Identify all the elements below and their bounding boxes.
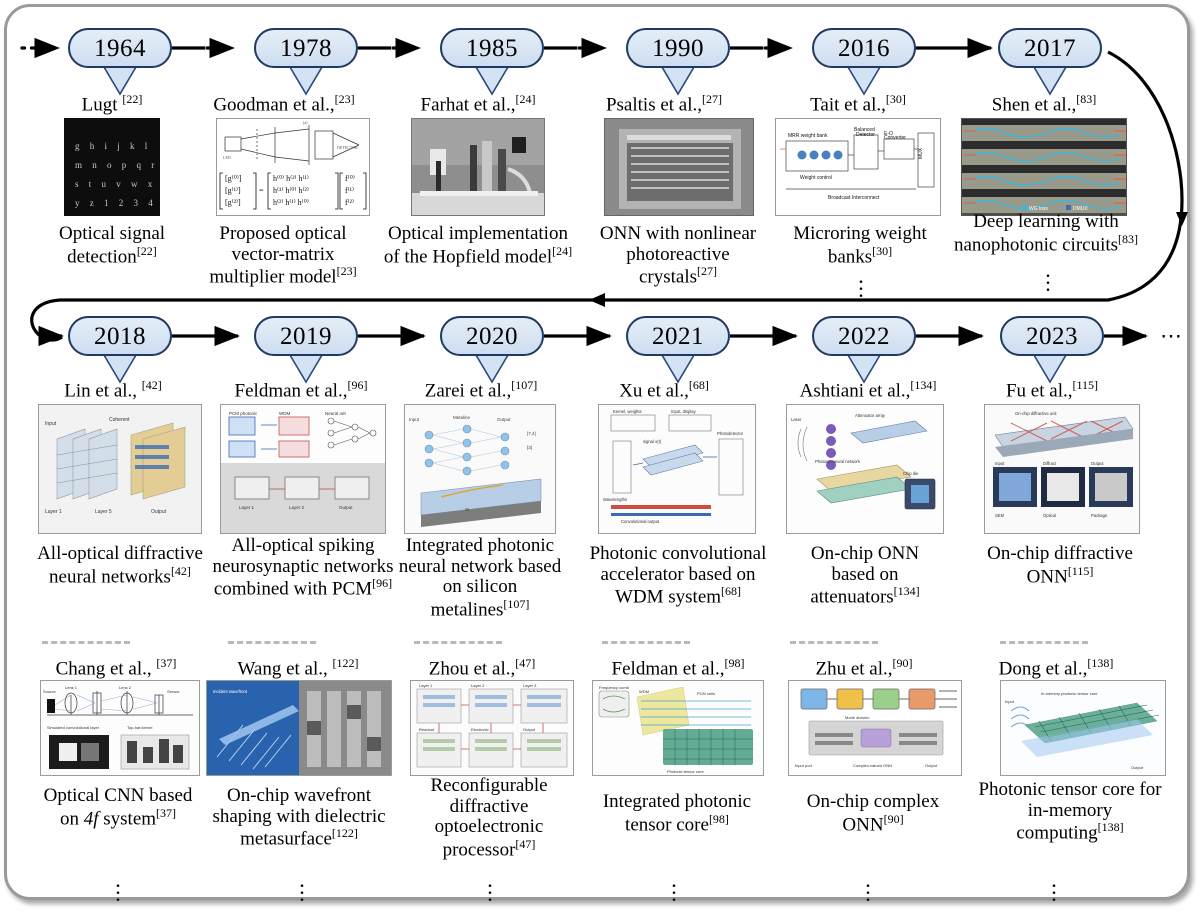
svg-text:Wavelengths: Wavelengths: [603, 497, 627, 502]
year-node-1964[interactable]: 1964: [68, 28, 172, 68]
svg-text:Source: Source: [43, 689, 56, 694]
author-label-shen: Shen et al.,[83]: [992, 92, 1096, 116]
svg-text:Detector: Detector: [856, 132, 875, 138]
svg-text:PCM cells: PCM cells: [697, 691, 715, 696]
thumb-on-chip-onn-attenuators: LaserAttenuator array Photonic neural ne…: [786, 404, 944, 534]
svg-text:[3]: [3]: [527, 445, 532, 450]
author-label-zarei: Zarei et al.,[107]: [425, 378, 538, 402]
svg-text:Input port: Input port: [795, 763, 813, 768]
row-separator-4: [602, 641, 690, 644]
svg-text:Broadcast Interconnect: Broadcast Interconnect: [828, 195, 880, 201]
year-node-2022[interactable]: 2022: [812, 316, 916, 356]
author-label-zhu: Zhu et al.,[90]: [815, 656, 912, 680]
year-node-2023[interactable]: 2023: [1000, 316, 1104, 356]
svg-text:WDM: WDM: [279, 411, 290, 416]
year-node-1985[interactable]: 1985: [440, 28, 544, 68]
author-label-lugt: Lugt [22]: [82, 92, 143, 116]
year-node-2019[interactable]: 2019: [254, 316, 358, 356]
caption-all-optical-diffractive: All-optical diffractive neural networks[…: [35, 544, 205, 587]
svg-text:Metaline: Metaline: [453, 415, 471, 420]
author-label-tait: Tait et al.,[30]: [810, 92, 906, 116]
svg-text:Photonic tensor core: Photonic tensor core: [667, 769, 704, 774]
svg-text:Readout: Readout: [419, 727, 435, 732]
thumb-reconfigurable-diffractive-processor: Layer 1Layer 2Layer 3 ReadoutElectronicO…: [410, 680, 574, 776]
thumb-photonic-tensor-core: Frequency combWDM PCM cellsPhotonic tens…: [592, 680, 764, 776]
svg-text:f⁽²⁾: f⁽²⁾: [345, 198, 354, 207]
svg-text:Electronic: Electronic: [471, 727, 489, 732]
year-node-2018[interactable]: 2018: [68, 316, 172, 356]
svg-text:=: =: [259, 186, 264, 195]
svg-text:Input, display: Input, display: [671, 409, 697, 414]
svg-text:Coherent: Coherent: [109, 417, 130, 423]
caption-deep-learning-nanophotonic: Deep learning with nanophotonic circuits…: [946, 212, 1146, 255]
row-separator-2: [228, 641, 316, 644]
svg-text:Lens 2: Lens 2: [119, 685, 132, 690]
year-label: 2016: [838, 36, 890, 61]
svg-text:LED: LED: [223, 155, 231, 160]
svg-text:Output: Output: [497, 417, 511, 422]
svg-text:Mode division: Mode division: [845, 715, 869, 720]
year-label: 1978: [280, 36, 332, 61]
row-separator-6: [1000, 641, 1088, 644]
svg-text:[7,4]: [7,4]: [527, 431, 536, 436]
svg-text:MUX: MUX: [918, 147, 924, 159]
year-node-2017[interactable]: 2017: [998, 28, 1102, 68]
caption-optical-signal-detection: Optical signal detection[22]: [37, 224, 187, 267]
svg-text:Incident wavefront: Incident wavefront: [213, 689, 248, 694]
caption-photonic-tensor-core-in-memory: Photonic tensor core for in-memory compu…: [977, 780, 1163, 844]
vdots-row3-col1: ...: [115, 876, 121, 897]
caption-photonic-conv-accelerator: Photonic convolutional accelerator based…: [580, 544, 776, 608]
svg-text:Frequency comb: Frequency comb: [599, 685, 630, 690]
thumb-complex-onn-chip: Mode division Input portComplex-valued O…: [788, 680, 962, 776]
vdots-row3-col6: ...: [1051, 876, 1057, 897]
svg-text:Layer 1: Layer 1: [45, 509, 62, 515]
caption-onchip-diffractive-onn: On-chip diffractive ONN[115]: [972, 544, 1148, 587]
svg-text:Attenuator array: Attenuator array: [855, 413, 886, 418]
svg-text:Photonic neural network: Photonic neural network: [815, 459, 861, 464]
vdots-row1-col6: ...: [1045, 266, 1051, 287]
svg-text:Output: Output: [1131, 765, 1144, 770]
svg-text:[g⁽⁰⁾]: [g⁽⁰⁾]: [225, 174, 242, 183]
thumb-in-memory-photonic-tensor-core: In-memory photonic tensor core InputOutp…: [1000, 680, 1166, 776]
year-label: 2017: [1024, 36, 1076, 61]
vdots-row3-col4: ...: [671, 876, 677, 897]
author-label-fu: Fu et al.,[115]: [1006, 378, 1098, 402]
year-label: 1985: [466, 36, 518, 61]
svg-text:Output: Output: [1091, 461, 1104, 466]
timeline-trailing-ellipsis: ⋯: [1160, 323, 1184, 349]
svg-text:Input: Input: [995, 461, 1005, 466]
svg-text:MRR weight bank: MRR weight bank: [788, 133, 828, 139]
svg-text:Lens 1: Lens 1: [65, 685, 78, 690]
thumb-optical-cnn-4f-system: SourceLens 1 Lens 2Sensor Simulated conv…: [40, 680, 200, 776]
svg-text:Converter: Converter: [884, 135, 906, 141]
thumb-diffractive-deep-neural-network: InputLayer 1 Layer 5Output Coherent: [38, 404, 202, 534]
author-label-chang: Chang et al., [37]: [56, 656, 177, 680]
svg-text:Top-hat kernel: Top-hat kernel: [127, 725, 152, 730]
caption-microring-weight-banks: Microring weight banks[30]: [780, 224, 940, 267]
svg-text:PCM photonic: PCM photonic: [229, 411, 258, 416]
author-label-feldman-2021: Feldman et al.,[98]: [612, 656, 745, 680]
thumb-lab-bench-photo: [411, 118, 545, 216]
caption-integrated-photonic-metalines: Integrated photonic neural network based…: [397, 536, 563, 620]
vdots-row1-col5: ...: [858, 272, 864, 293]
svg-text:Output: Output: [339, 505, 353, 510]
svg-text:Input: Input: [1005, 699, 1015, 704]
author-label-xu: Xu et al.,[68]: [619, 378, 709, 402]
author-label-farhat: Farhat et al.,[24]: [421, 92, 536, 116]
caption-integrated-photonic-tensor-core: Integrated photonic tensor core[98]: [589, 792, 765, 835]
caption-spiking-neurosynaptic-pcm: All-optical spiking neurosynaptic networ…: [212, 536, 394, 600]
svg-text:Package: Package: [1091, 513, 1108, 518]
caption-onchip-complex-onn: On-chip complex ONN[90]: [793, 792, 953, 835]
year-label: 1964: [94, 36, 146, 61]
svg-text:Output: Output: [523, 727, 536, 732]
year-node-1990[interactable]: 1990: [626, 28, 730, 68]
thumb-nanophotonic-mzi-mesh: WG loss DMUX: [961, 118, 1127, 216]
svg-text:f⁽¹⁾: f⁽¹⁾: [345, 186, 354, 195]
svg-text:signal x(t): signal x(t): [643, 439, 662, 444]
svg-text:Input: Input: [409, 417, 420, 422]
year-node-2021[interactable]: 2021: [626, 316, 730, 356]
thumb-optical-setup-schematic: LEDDETECTOR (a) [g⁽⁰⁾][g⁽¹⁾][g⁽²⁾] = h⁽⁰…: [216, 118, 370, 216]
svg-text:Layer 3: Layer 3: [523, 683, 537, 688]
author-label-zhou: Zhou et al.,[47]: [429, 656, 536, 680]
caption-onchip-wavefront-shaping: On-chip wavefront shaping with dielectri…: [198, 786, 400, 850]
thumb-on-chip-diffractive-onn: On-chip diffractive unit InputDiffractOu…: [984, 404, 1140, 534]
svg-text:Output: Output: [151, 509, 167, 515]
svg-text:[g⁽¹⁾]: [g⁽¹⁾]: [225, 186, 241, 195]
caption-reconfigurable-diffractive: Reconfigurable diffractive optoelectroni…: [409, 776, 569, 860]
svg-text:Layer 2: Layer 2: [471, 683, 485, 688]
thumb-grayscale-letter-grid: g h i j k lm n o p q rs t u v w xy z 1 2…: [64, 118, 160, 216]
svg-text:Diffract: Diffract: [1043, 461, 1057, 466]
svg-text:Output: Output: [925, 763, 938, 768]
svg-text:h⁽⁰⁾ h⁽²⁾ h⁽¹⁾: h⁽⁰⁾ h⁽²⁾ h⁽¹⁾: [273, 174, 309, 183]
svg-text:Optical: Optical: [1043, 513, 1056, 518]
svg-text:h⁽¹⁾ h⁽⁰⁾ h⁽²⁾: h⁽¹⁾ h⁽⁰⁾ h⁽²⁾: [273, 186, 309, 195]
svg-text:DETECTOR: DETECTOR: [337, 145, 358, 150]
row-separator-3: [414, 641, 502, 644]
svg-text:Layer 5: Layer 5: [95, 509, 112, 515]
caption-hopfield-model: Optical implementation of the Hopfield m…: [380, 224, 576, 267]
author-label-goodman: Goodman et al.,[23]: [213, 92, 354, 116]
svg-text:Layer 1: Layer 1: [239, 505, 255, 510]
year-node-1978[interactable]: 1978: [254, 28, 358, 68]
author-label-wang: Wang et al., [122]: [237, 656, 358, 680]
author-label-psaltis: Psaltis et al.,[27]: [606, 92, 722, 116]
row-separator-5: [790, 641, 878, 644]
svg-text:WDM: WDM: [639, 689, 649, 694]
vdots-row3-col3: ...: [487, 876, 493, 897]
author-label-feldman-2019: Feldman et al.,[96]: [235, 378, 368, 402]
svg-text:Simulated convolutional layer: Simulated convolutional layer: [47, 725, 100, 730]
year-node-2020[interactable]: 2020: [440, 316, 544, 356]
author-label-ashtiani: Ashtiani et al.,[134]: [800, 378, 937, 402]
thumb-dielectric-metasurface-wavefront: Incident wavefront: [206, 680, 392, 776]
vdots-row3-col2: ...: [299, 876, 305, 897]
row-separator-1: [42, 641, 130, 644]
svg-text:Photodetector: Photodetector: [717, 431, 744, 436]
thumb-crystal-array-photo: [604, 118, 754, 216]
caption-optical-cnn-4f: Optical CNN based on 4f system[37]: [38, 786, 198, 829]
thumb-microring-weight-bank-diagram: MRR weight bank BalancedDetector E-OConv…: [775, 118, 941, 216]
author-label-lin: Lin et al., [42]: [64, 378, 162, 402]
author-label-dong: Dong et al.,[138]: [999, 656, 1114, 680]
svg-text:Convolutional output: Convolutional output: [621, 519, 660, 524]
svg-text:Layer 2: Layer 2: [289, 505, 305, 510]
caption-vector-matrix-multiplier: Proposed optical vector-matrix multiplie…: [201, 224, 365, 288]
svg-text:Laser: Laser: [791, 417, 802, 422]
caption-onchip-onn-attenuators: On-chip ONN based on attenuators[134]: [787, 544, 943, 608]
svg-text:Kernel, weights: Kernel, weights: [613, 409, 642, 414]
svg-text:Complex-valued ONN: Complex-valued ONN: [853, 763, 892, 768]
thumb-silicon-metaline-network: InputMetalineOutput [7,4][3] Si: [404, 404, 556, 534]
svg-text:Neural net: Neural net: [325, 411, 347, 416]
timeline-stage: 1964 1978 1985 1990 2016 2017 Lugt [22] …: [0, 0, 1203, 913]
svg-text:Si: Si: [465, 507, 469, 512]
svg-text:h⁽²⁾ h⁽¹⁾ h⁽⁰⁾: h⁽²⁾ h⁽¹⁾ h⁽⁰⁾: [273, 198, 309, 207]
svg-text:Chip die: Chip die: [903, 471, 919, 476]
svg-text:SEM: SEM: [995, 513, 1005, 518]
svg-text:[g⁽²⁾]: [g⁽²⁾]: [225, 198, 241, 207]
year-label: 1990: [652, 36, 704, 61]
thumb-wdm-convolutional-accelerator: Kernel, weightsInput, display signal x(t…: [598, 404, 756, 534]
svg-text:Sensor: Sensor: [167, 689, 180, 694]
svg-text:Weight control: Weight control: [800, 175, 832, 181]
svg-text:Input: Input: [45, 421, 57, 427]
svg-text:f⁽⁰⁾: f⁽⁰⁾: [345, 174, 355, 183]
caption-onn-photoreactive-crystals: ONN with nonlinear photoreactive crystal…: [589, 224, 767, 288]
svg-text:(a): (a): [303, 120, 308, 125]
year-node-2016[interactable]: 2016: [812, 28, 916, 68]
svg-text:On-chip diffractive unit: On-chip diffractive unit: [1015, 411, 1057, 416]
svg-text:In-memory photonic tensor core: In-memory photonic tensor core: [1041, 691, 1098, 696]
thumb-pcm-spiking-neurosynaptic: PCM photonicWDMNeural net Layer 1Layer 2…: [220, 404, 386, 534]
vdots-row3-col5: ...: [865, 876, 871, 897]
svg-text:Layer 1: Layer 1: [419, 683, 433, 688]
